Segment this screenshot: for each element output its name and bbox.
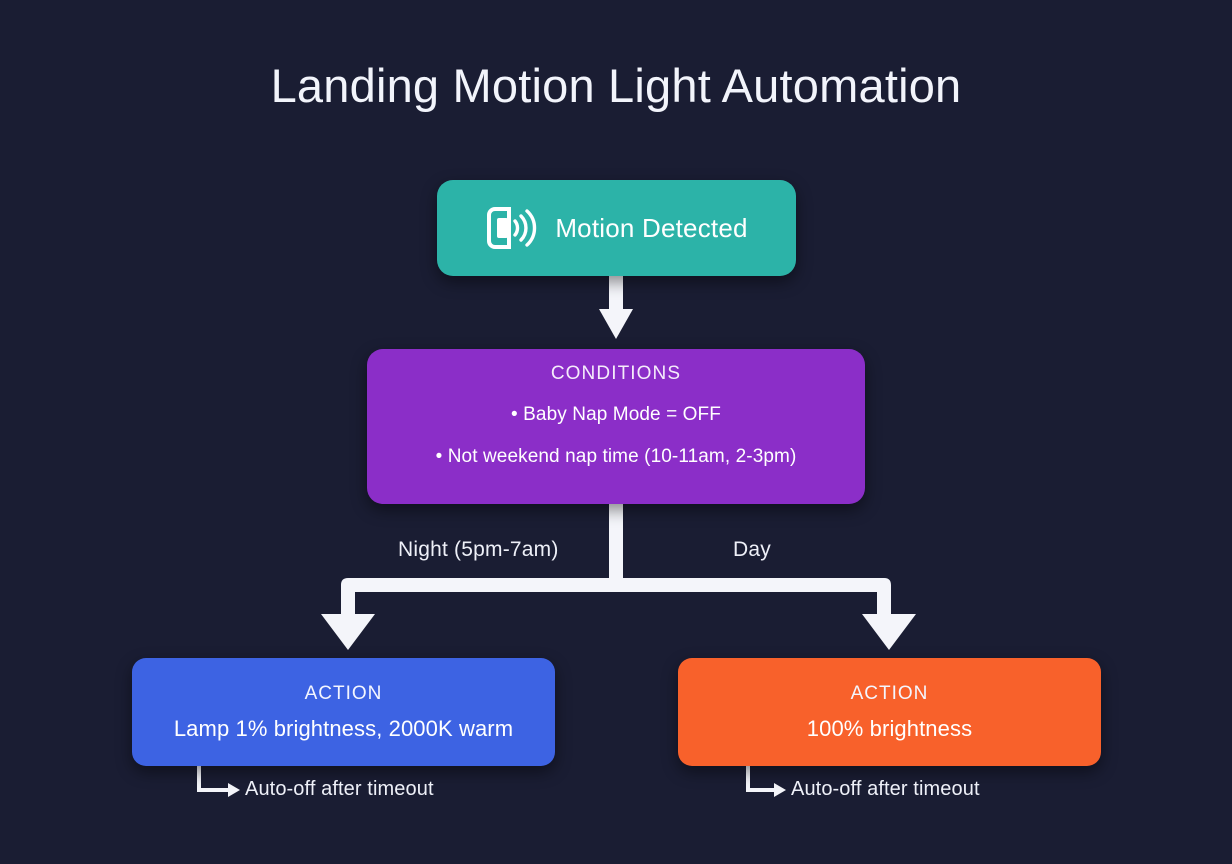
- connector-split: [321, 502, 916, 650]
- action-text: Lamp 1% brightness, 2000K warm: [174, 716, 513, 742]
- condition-item: • Baby Nap Mode = OFF: [386, 397, 846, 432]
- condition-item: • Not weekend nap time (10-11am, 2-3pm): [386, 439, 846, 474]
- trigger-node[interactable]: Motion Detected: [437, 180, 796, 276]
- action-text: 100% brightness: [807, 716, 972, 742]
- footnote-night: Auto-off after timeout: [245, 778, 434, 801]
- motion-sensor-icon: [485, 205, 537, 251]
- branch-label-day: Day: [733, 538, 771, 562]
- connector-day-footnote: [748, 766, 786, 797]
- connector-night-footnote: [199, 766, 240, 797]
- connector-trigger-to-conditions: [599, 274, 633, 339]
- page-title: Landing Motion Light Automation: [0, 58, 1232, 113]
- action-kicker: ACTION: [851, 683, 929, 705]
- automation-flow-diagram: Landing Motion Light Automation: [0, 0, 1232, 864]
- conditions-heading: CONDITIONS: [386, 363, 846, 385]
- trigger-label: Motion Detected: [555, 213, 747, 244]
- branch-label-night: Night (5pm-7am): [398, 538, 559, 562]
- action-kicker: ACTION: [305, 683, 383, 705]
- conditions-node[interactable]: CONDITIONS • Baby Nap Mode = OFF • Not w…: [367, 349, 865, 504]
- action-node-night[interactable]: ACTION Lamp 1% brightness, 2000K warm: [132, 658, 555, 766]
- action-node-day[interactable]: ACTION 100% brightness: [678, 658, 1101, 766]
- footnote-day: Auto-off after timeout: [791, 778, 980, 801]
